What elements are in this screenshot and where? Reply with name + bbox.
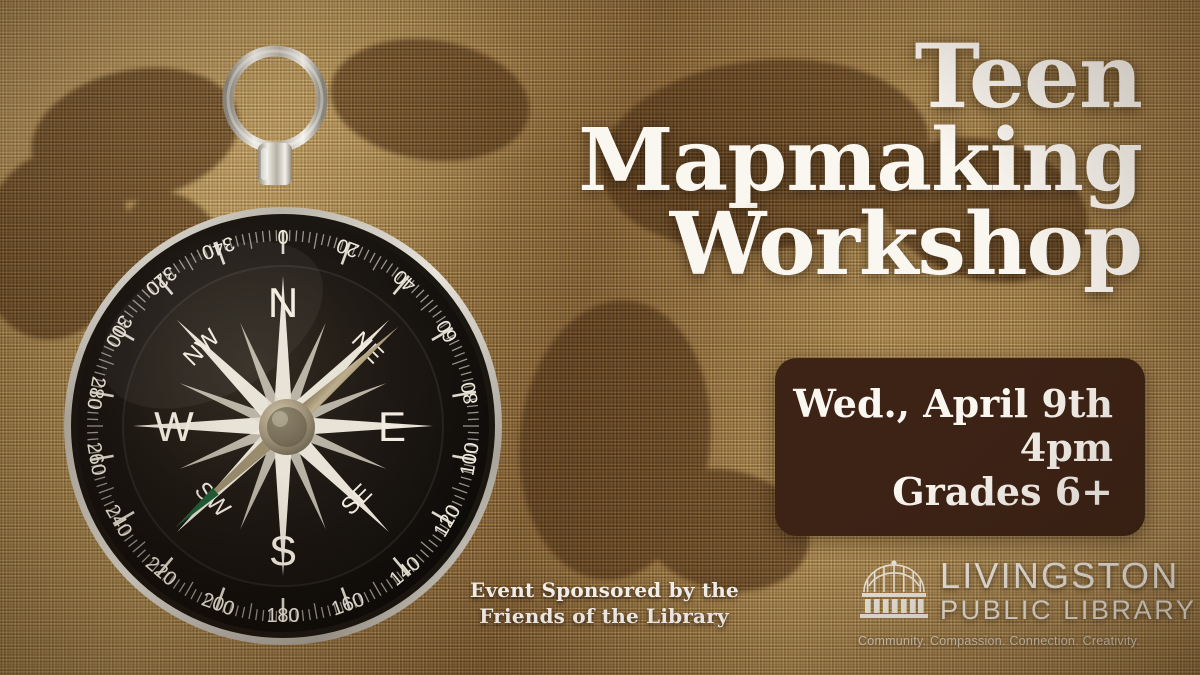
event-date: Wed., April 9th [775, 382, 1113, 426]
sponsor-credit: Event Sponsored by the Friends of the Li… [470, 578, 738, 629]
library-logo: LIVINGSTON PUBLIC LIBRARY Community. Com… [858, 556, 1140, 646]
library-dome-icon [858, 556, 930, 618]
svg-text:E: E [378, 403, 406, 450]
compass-icon: 0204060801001201401601802002202402602803… [62, 205, 504, 647]
sponsor-line-2: Friends of the Library [470, 604, 738, 630]
title-line-2: Mapmaking [502, 119, 1142, 202]
svg-text:S: S [269, 527, 297, 574]
logo-name-primary: LIVINGSTON [940, 558, 1197, 594]
svg-text:180: 180 [266, 605, 299, 627]
page-title: Teen Mapmaking Workshop [502, 34, 1142, 286]
event-details-box: Wed., April 9th 4pm Grades 6+ [775, 358, 1145, 536]
title-line-3: Workshop [502, 203, 1142, 286]
logo-tagline: Community. Compassion. Connection. Creat… [858, 634, 1140, 648]
event-audience: Grades 6+ [775, 470, 1113, 514]
compass-loop-icon [214, 45, 336, 197]
sponsor-line-1: Event Sponsored by the [470, 578, 738, 604]
poster-canvas: 0204060801001201401601802002202402602803… [0, 0, 1200, 675]
svg-text:W: W [154, 403, 194, 450]
event-time: 4pm [775, 426, 1113, 470]
logo-name-secondary: PUBLIC LIBRARY [940, 594, 1197, 627]
title-line-1: Teen [502, 34, 1142, 119]
svg-text:80: 80 [457, 380, 483, 406]
